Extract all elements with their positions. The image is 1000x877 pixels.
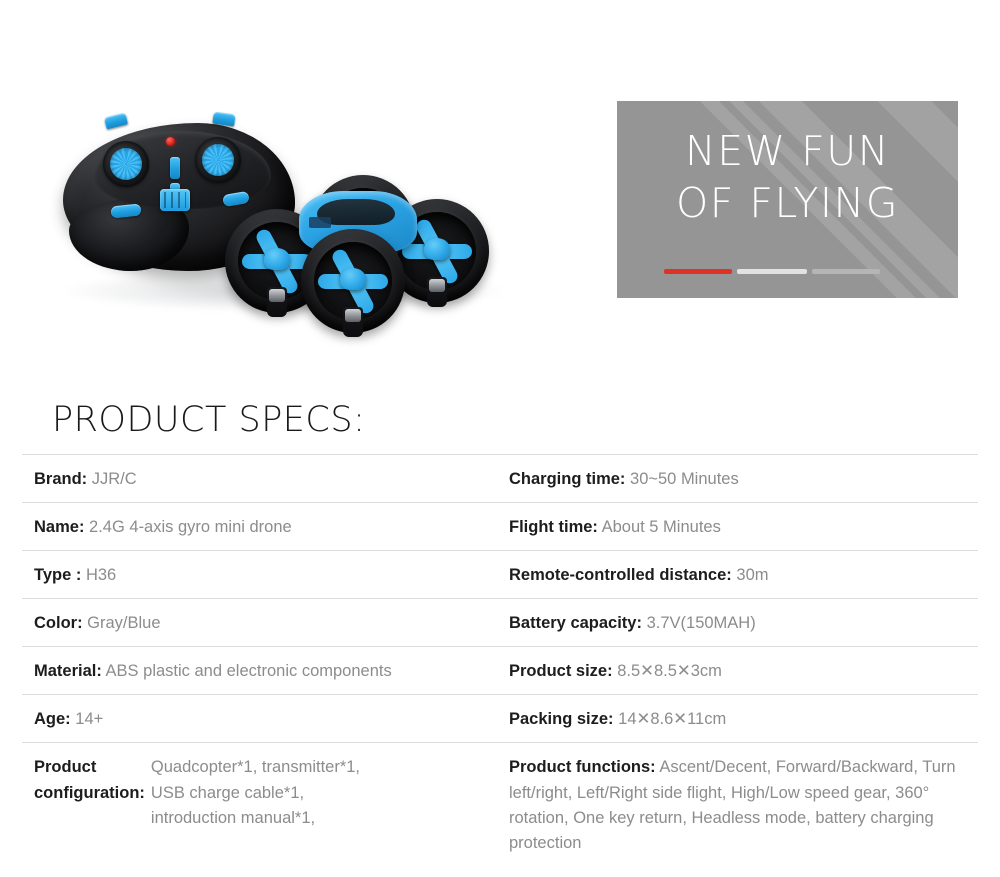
spec-cell-packing-size: Packing size: 14✕8.6✕11cm — [497, 695, 978, 742]
spec-label: Flight time: — [509, 518, 598, 536]
banner-headline-line-2: OF FLYING — [617, 177, 958, 229]
spec-value: Gray/Blue — [87, 614, 160, 632]
marketing-banner: NEW FUN OF FLYING — [617, 101, 958, 298]
joystick-left — [103, 141, 149, 187]
banner-headline-line-1: NEW FUN — [617, 125, 958, 177]
spec-value: Quadcopter*1, transmitter*1, USB charge … — [151, 755, 360, 830]
spec-label: Packing size: — [509, 710, 614, 728]
table-row: Age: 14+ Packing size: 14✕8.6✕11cm — [22, 695, 978, 743]
hero-section: NEW FUN OF FLYING — [0, 0, 1000, 390]
table-row: Material: ABS plastic and electronic com… — [22, 647, 978, 695]
power-led-indicator — [166, 137, 175, 146]
spec-value: 14+ — [75, 710, 103, 728]
drone-image — [215, 173, 505, 323]
spec-value: 8.5✕8.5✕3cm — [617, 662, 722, 680]
spec-value: 2.4G 4-axis gyro mini drone — [89, 518, 292, 536]
motor-leg — [267, 287, 287, 317]
spec-label: Product functions: — [509, 758, 656, 776]
spec-cell-product-configuration: Product configuration: Quadcopter*1, tra… — [22, 743, 497, 869]
spec-label: Age: — [34, 710, 71, 728]
spec-label: Brand: — [34, 470, 87, 488]
spec-cell-brand: Brand: JJR/C — [22, 455, 497, 502]
propeller-guard-front — [301, 229, 405, 333]
remote-trim-button-upper — [170, 157, 180, 179]
table-row: Type : H36 Remote-controlled distance: 3… — [22, 551, 978, 599]
spec-value: 30m — [736, 566, 768, 584]
remote-center-pad — [160, 189, 190, 211]
propeller-hub — [424, 238, 450, 260]
spec-value: H36 — [86, 566, 116, 584]
motor-leg — [343, 307, 363, 337]
propeller-hub — [340, 268, 366, 290]
divider-segment-light — [737, 269, 807, 274]
table-row: Name: 2.4G 4-axis gyro mini drone Flight… — [22, 503, 978, 551]
spec-cell-remote-distance: Remote-controlled distance: 30m — [497, 551, 978, 598]
divider-segment-dark — [812, 269, 880, 274]
remote-shoulder-button-left — [104, 113, 128, 130]
specs-heading: PRODUCT SPECS: — [0, 390, 1000, 454]
spec-cell-product-size: Product size: 8.5✕8.5✕3cm — [497, 647, 978, 694]
banner-divider-rule — [664, 269, 880, 274]
table-row: Product configuration: Quadcopter*1, tra… — [22, 743, 978, 869]
spec-label: Name: — [34, 518, 84, 536]
spec-label: Product size: — [509, 662, 613, 680]
spec-cell-material: Material: ABS plastic and electronic com… — [22, 647, 497, 694]
motor-leg — [427, 277, 447, 307]
specs-table: Brand: JJR/C Charging time: 30~50 Minute… — [22, 454, 978, 870]
spec-label: Battery capacity: — [509, 614, 642, 632]
spec-value: ABS plastic and electronic components — [106, 662, 392, 680]
table-row: Brand: JJR/C Charging time: 30~50 Minute… — [22, 455, 978, 503]
drone-badge — [309, 217, 331, 228]
table-row: Color: Gray/Blue Battery capacity: 3.7V(… — [22, 599, 978, 647]
spec-value: JJR/C — [92, 470, 137, 488]
spec-cell-age: Age: 14+ — [22, 695, 497, 742]
propeller-hub — [264, 248, 290, 270]
spec-label: Product configuration: — [34, 755, 151, 805]
spec-value: 30~50 Minutes — [630, 470, 739, 488]
spec-label: Charging time: — [509, 470, 625, 488]
spec-label: Color: — [34, 614, 83, 632]
spec-cell-battery-capacity: Battery capacity: 3.7V(150MAH) — [497, 599, 978, 646]
spec-cell-name: Name: 2.4G 4-axis gyro mini drone — [22, 503, 497, 550]
spec-value: About 5 Minutes — [602, 518, 721, 536]
product-specs-section: PRODUCT SPECS: Brand: JJR/C Charging tim… — [0, 390, 1000, 870]
spec-value: 14✕8.6✕11cm — [618, 710, 726, 728]
spec-cell-product-functions: Product functions: Ascent/Decent, Forwar… — [497, 743, 978, 869]
spec-label: Material: — [34, 662, 102, 680]
spec-cell-flight-time: Flight time: About 5 Minutes — [497, 503, 978, 550]
spec-cell-color: Color: Gray/Blue — [22, 599, 497, 646]
banner-text-block: NEW FUN OF FLYING — [617, 101, 958, 230]
product-photo — [55, 95, 525, 345]
spec-cell-charging-time: Charging time: 30~50 Minutes — [497, 455, 978, 502]
spec-label: Type : — [34, 566, 81, 584]
spec-cell-type: Type : H36 — [22, 551, 497, 598]
divider-segment-red — [664, 269, 732, 274]
spec-value: 3.7V(150MAH) — [647, 614, 756, 632]
spec-label: Remote-controlled distance: — [509, 566, 732, 584]
